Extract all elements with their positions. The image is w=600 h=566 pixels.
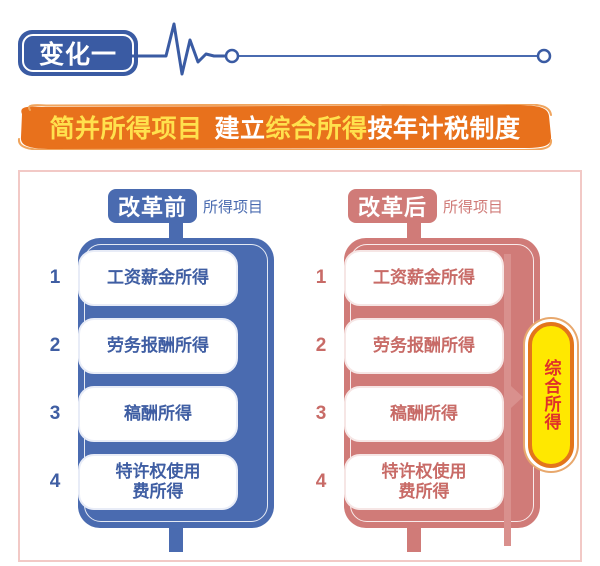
column-after-subtitle: 所得项目	[443, 196, 503, 217]
item-label: 工资薪金所得	[78, 250, 238, 306]
column-before-subtitle: 所得项目	[203, 196, 263, 217]
before-top-connector	[169, 222, 183, 238]
item-number: 3	[308, 403, 334, 425]
combined-income-badge: 综合所得	[528, 322, 574, 468]
change-badge: 变化一	[18, 30, 138, 76]
item-label: 劳务报酬所得	[78, 318, 238, 374]
item-label: 稿酬所得	[344, 386, 504, 442]
combined-income-label: 综合所得	[543, 359, 560, 431]
item-number: 3	[42, 403, 68, 425]
after-top-connector	[407, 222, 421, 238]
item-number: 4	[42, 471, 68, 493]
item-label-line-1: 特许权使用	[116, 462, 201, 481]
heading-text: 简并所得项目 建立 综合所得 按年计税制度	[16, 104, 554, 150]
list-item: 2 劳务报酬所得	[42, 312, 274, 380]
item-number: 1	[308, 267, 334, 289]
heading-part-4: 按年计税制度	[368, 109, 521, 145]
item-label-line-2: 费所得	[399, 482, 450, 501]
list-item: 3 稿酬所得	[42, 380, 274, 448]
heading-part-2: 建立	[214, 109, 265, 145]
list-item: 1 工资薪金所得	[42, 244, 274, 312]
item-number: 2	[308, 335, 334, 357]
item-number: 2	[42, 335, 68, 357]
column-after-reform: 改革后 所得项目 1 工资薪金所得 2 劳务报酬所得 3 稿酬所得	[308, 188, 548, 534]
column-before-reform: 改革前 所得项目 1 工资薪金所得 2 劳务报酬所得 3 稿酬所得	[42, 188, 282, 534]
ekg-pulse-icon	[130, 18, 560, 80]
column-before-title: 改革前	[108, 189, 197, 223]
item-number: 1	[42, 267, 68, 289]
heading-part-1: 简并所得项目	[49, 109, 202, 145]
merge-arrow-icon	[511, 386, 523, 408]
item-label: 工资薪金所得	[344, 250, 504, 306]
item-label: 劳务报酬所得	[344, 318, 504, 374]
before-bottom-connector	[169, 528, 183, 552]
after-bottom-connector	[407, 528, 421, 552]
item-label: 特许权使用 费所得	[344, 454, 504, 510]
item-label-line-1: 特许权使用	[382, 462, 467, 481]
top-header-bar: 变化一	[0, 0, 600, 92]
before-items-stack: 1 工资薪金所得 2 劳务报酬所得 3 稿酬所得 4 特许权使用 费	[78, 238, 274, 534]
change-badge-label: 变化一	[39, 35, 117, 71]
item-label: 稿酬所得	[78, 386, 238, 442]
item-label: 特许权使用 费所得	[78, 454, 238, 510]
item-label-line-2: 费所得	[133, 482, 184, 501]
heading-part-3: 综合所得	[266, 109, 368, 145]
list-item: 4 特许权使用 费所得	[42, 448, 274, 516]
column-after-title: 改革后	[348, 189, 437, 223]
item-number: 4	[308, 471, 334, 493]
heading-banner: 简并所得项目 建立 综合所得 按年计税制度	[16, 104, 554, 150]
comparison-card: 改革前 所得项目 1 工资薪金所得 2 劳务报酬所得 3 稿酬所得	[18, 170, 582, 562]
column-after-header: 改革后 所得项目	[308, 188, 548, 224]
after-vertical-bar	[504, 254, 511, 546]
column-before-header: 改革前 所得项目	[42, 188, 282, 224]
